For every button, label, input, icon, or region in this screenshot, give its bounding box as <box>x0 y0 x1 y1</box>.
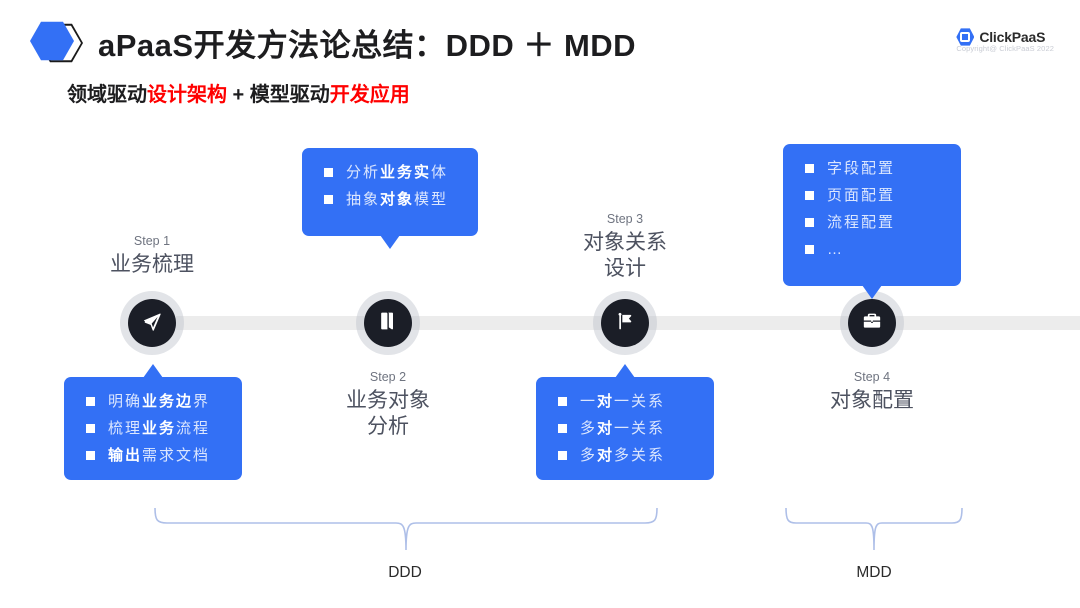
bullet-square-icon <box>86 451 95 460</box>
slide-canvas: aPaaS开发方法论总结：DDD ＋ MDD 领域驱动设计架构 + 模型驱动开发… <box>0 0 1080 608</box>
brand-name: ClickPaaS <box>979 29 1045 45</box>
page-title: aPaaS开发方法论总结：DDD ＋ MDD <box>98 20 636 65</box>
callout-text-plain-b: 流程 <box>176 420 210 437</box>
callout-item: 流程配置 <box>805 215 941 230</box>
step-number-3: Step 3 <box>540 212 710 226</box>
callout-step-4: 字段配置 页面配置 流程配置 … <box>783 144 961 286</box>
callout-step-1: 明确业务边界 梳理业务流程 输出需求文档 <box>64 377 242 480</box>
bullet-square-icon <box>805 191 814 200</box>
callout-item: 分析业务实体 <box>324 165 458 180</box>
callout-text-bold: 业务 <box>142 420 176 437</box>
callout-text-plain-b: 界 <box>193 393 210 410</box>
bullet-square-icon <box>86 424 95 433</box>
callout-text-plain-a: 多 <box>580 420 597 437</box>
subtitle-part-2-highlight: 设计架构 <box>147 84 227 106</box>
callout-item: … <box>805 242 941 257</box>
callout-item: 页面配置 <box>805 188 941 203</box>
book-icon <box>378 311 398 336</box>
callout-text-bold: 对 <box>597 420 614 437</box>
callout-text: … <box>827 242 844 257</box>
callout-text: 流程配置 <box>827 215 895 230</box>
callout-text-bold: 输出 <box>108 447 142 464</box>
callout-item: 明确业务边界 <box>86 394 222 409</box>
callout-item: 一对一关系 <box>558 394 694 409</box>
step-name-2: 业务对象 分析 <box>303 388 473 439</box>
callout-step-3: 一对一关系 多对一关系 多对多关系 <box>536 377 714 480</box>
brace-ddd <box>150 506 662 552</box>
step-label-1: Step 1 业务梳理 <box>67 234 237 278</box>
callout-text-plain-a: 一 <box>580 393 597 410</box>
bullet-square-icon <box>558 451 567 460</box>
timeline-node-step-1[interactable] <box>128 299 176 347</box>
briefcase-icon <box>862 311 882 336</box>
step-label-3: Step 3 对象关系 设计 <box>540 212 710 281</box>
callout-text-plain-a: 分析 <box>346 164 380 181</box>
bullet-square-icon <box>86 397 95 406</box>
callout-text-plain-b: 一关系 <box>614 420 665 437</box>
page-subtitle: 领域驱动设计架构 + 模型驱动开发应用 <box>67 78 410 107</box>
step-label-4: Step 4 对象配置 <box>787 370 957 414</box>
callout-text-plain-b: 体 <box>431 164 448 181</box>
callout-text-bold: 对 <box>597 393 614 410</box>
callout-text-plain-a: 梳理 <box>108 420 142 437</box>
subtitle-part-4-highlight: 开发应用 <box>330 84 410 106</box>
callout-text-plain-b: 模型 <box>414 191 448 208</box>
callout-tail <box>380 235 400 249</box>
callout-text-plain-b: 一关系 <box>614 393 665 410</box>
callout-text-bold: 业务实 <box>380 164 431 181</box>
callout-tail <box>615 364 635 378</box>
callout-text-bold: 对象 <box>380 191 414 208</box>
callout-item: 多对多关系 <box>558 448 694 463</box>
step-name-3: 对象关系 设计 <box>540 230 710 281</box>
subtitle-part-1: 领域驱动 <box>67 84 147 106</box>
callout-tail <box>862 285 882 299</box>
callout-text: 字段配置 <box>827 161 895 176</box>
callout-item: 字段配置 <box>805 161 941 176</box>
callout-item: 输出需求文档 <box>86 448 222 463</box>
timeline-node-step-2[interactable] <box>364 299 412 347</box>
step-name-4: 对象配置 <box>787 388 957 414</box>
callout-step-2: 分析业务实体 抽象对象模型 <box>302 148 478 236</box>
bullet-square-icon <box>324 195 333 204</box>
bullet-square-icon <box>558 424 567 433</box>
callout-text-plain-a: 抽象 <box>346 191 380 208</box>
bullet-square-icon <box>805 218 814 227</box>
brace-label-ddd: DDD <box>345 564 465 582</box>
callout-text-plain-a: 多 <box>580 447 597 464</box>
subtitle-part-3: + 模型驱动 <box>227 84 330 106</box>
callout-text: 页面配置 <box>827 188 895 203</box>
brand-logo: ClickPaaS Copyright@ ClickPaaS 2022 <box>956 28 1054 53</box>
callout-item: 梳理业务流程 <box>86 421 222 436</box>
step-label-2: Step 2 业务对象 分析 <box>303 370 473 439</box>
step-number-2: Step 2 <box>303 370 473 384</box>
bullet-square-icon <box>805 164 814 173</box>
timeline-node-step-4[interactable] <box>848 299 896 347</box>
callout-text-bold: 对 <box>597 447 614 464</box>
brace-label-mdd: MDD <box>814 564 934 582</box>
step-number-4: Step 4 <box>787 370 957 384</box>
timeline-node-step-3[interactable] <box>601 299 649 347</box>
callout-tail <box>143 364 163 378</box>
clickpaas-hexagon-icon <box>956 28 974 46</box>
callout-text-bold: 业务边 <box>142 393 193 410</box>
callout-text-plain-b: 多关系 <box>614 447 665 464</box>
callout-item: 多对一关系 <box>558 421 694 436</box>
step-number-1: Step 1 <box>67 234 237 248</box>
callout-text-plain-a: 明确 <box>108 393 142 410</box>
callout-item: 抽象对象模型 <box>324 192 458 207</box>
bullet-square-icon <box>805 245 814 254</box>
step-name-1: 业务梳理 <box>67 252 237 278</box>
flag-icon <box>615 311 635 336</box>
paper-plane-icon <box>142 311 162 336</box>
bullet-square-icon <box>558 397 567 406</box>
bullet-square-icon <box>324 168 333 177</box>
brace-mdd <box>782 506 966 552</box>
callout-text-plain-b: 需求文档 <box>142 447 210 464</box>
hexagon-logo-icon <box>30 20 84 66</box>
